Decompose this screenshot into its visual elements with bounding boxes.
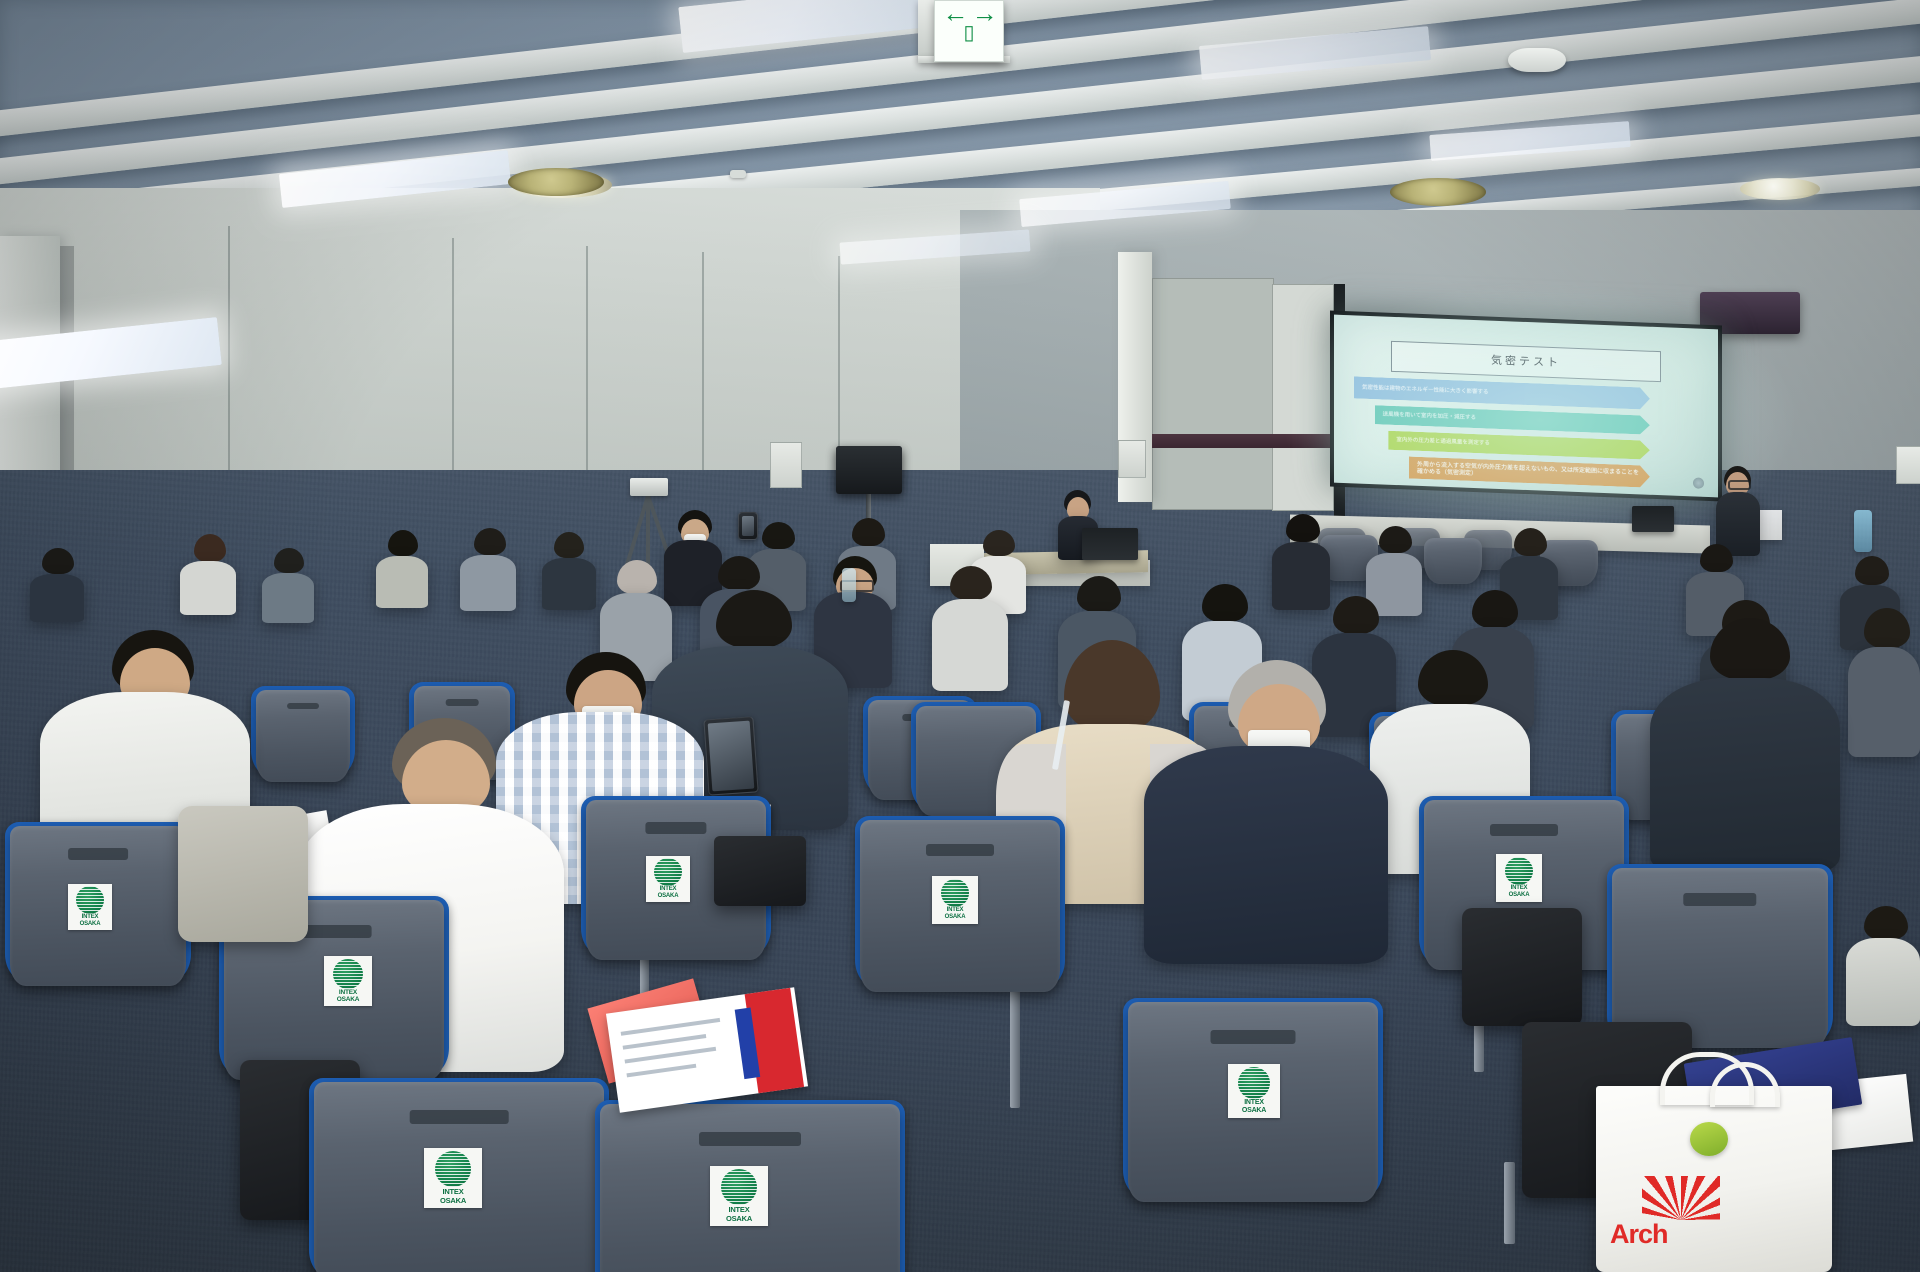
attendee-gray-hair (1144, 660, 1388, 960)
slide-bullet-4: 外周から流入する空気が内外圧力差を超えないもの、又は所定範囲に収まることを確かめ… (1409, 457, 1650, 488)
logo-line-2: OSAKA (945, 914, 966, 921)
hair (388, 530, 418, 556)
hair (852, 518, 885, 546)
logo-line-2: OSAKA (337, 996, 359, 1004)
globe-icon (654, 858, 682, 886)
chair-handle-slot (1211, 1030, 1296, 1044)
bag (714, 836, 806, 906)
logo-line-1: INTEX (339, 989, 357, 997)
hair (42, 548, 74, 574)
chair[interactable] (1612, 868, 1828, 1048)
torso (1144, 746, 1388, 964)
logo-line-1: INTEX (660, 886, 677, 893)
slide-bullet-text: 外周から流入する空気が内外圧力差を超えないもの、又は所定範囲に収まることを確かめ… (1417, 461, 1642, 484)
chair-handle-slot (1683, 893, 1756, 906)
confidence-monitor (1632, 506, 1674, 532)
sprinkler-head (730, 170, 746, 178)
torso (1846, 938, 1920, 1026)
chair[interactable]: INTEX OSAKA (10, 826, 186, 986)
projection-screen: 気密テスト 気密性能は建物のエネルギー性能に大きく影響する 送風機を用いて室内を… (1334, 315, 1718, 498)
hair (1514, 528, 1547, 556)
chair[interactable]: INTEX OSAKA (1128, 1002, 1378, 1202)
water-bottle (1854, 510, 1872, 552)
chair-handle-slot (699, 1132, 801, 1146)
brochure-text-line (626, 1064, 696, 1078)
backpack (1462, 908, 1582, 1026)
chair-handle-slot (926, 844, 994, 856)
smoke-detector (1508, 48, 1566, 72)
attendee (460, 528, 516, 608)
slide-bullet-text: 送風機を用いて室内を加圧・減圧する (1383, 411, 1476, 422)
attendee (30, 548, 84, 618)
slide-title: 気密テスト (1392, 348, 1660, 374)
wall-accent-band (1152, 434, 1332, 448)
globe-icon (1505, 857, 1533, 885)
exit-door-icon: ▯ (963, 23, 974, 43)
video-camera (630, 478, 668, 496)
globe-icon (1238, 1067, 1270, 1099)
slide-bullet-text: 気密性能は建物のエネルギー性能に大きく影響する (1362, 384, 1489, 396)
attendee (376, 530, 428, 606)
logo-line-2: OSAKA (1509, 892, 1530, 899)
hair (716, 590, 792, 648)
air-vent-diffuser (1390, 178, 1486, 206)
slide-page-marker (1693, 477, 1704, 488)
logo-line-2: OSAKA (726, 1214, 752, 1223)
chair-leg (1010, 988, 1020, 1108)
hair (762, 522, 795, 549)
logo-line-1: INTEX (82, 914, 99, 921)
logo-line-2: OSAKA (440, 1196, 466, 1205)
intex-osaka-logo: INTEX OSAKA (68, 884, 112, 930)
phone-screen (742, 516, 754, 536)
slide: 気密テスト 気密性能は建物のエネルギー性能に大きく影響する 送風機を用いて室内を… (1334, 315, 1718, 498)
emergency-exit-sign: ← → ▯ (934, 0, 1004, 62)
glasses-icon (1728, 480, 1751, 490)
attendee (1848, 608, 1920, 756)
attendee (542, 532, 596, 608)
wall-partition-panel (1152, 278, 1274, 510)
small-item (1690, 1122, 1728, 1156)
air-vent-diffuser (508, 168, 604, 196)
torso (542, 558, 596, 610)
intex-osaka-logo: INTEX OSAKA (1496, 854, 1542, 902)
hair (1418, 650, 1488, 706)
hair (1710, 618, 1790, 680)
intex-osaka-logo: INTEX OSAKA (646, 856, 690, 902)
chair[interactable]: INTEX OSAKA (860, 820, 1060, 992)
chair-leg (1504, 1162, 1515, 1244)
torso (30, 574, 84, 622)
intex-osaka-logo: INTEX OSAKA (424, 1148, 482, 1208)
jacket-on-chair (178, 806, 308, 942)
presenter-notes (1758, 510, 1782, 540)
hair (1864, 906, 1908, 940)
chair-handle-slot (287, 703, 319, 709)
hair (194, 534, 226, 562)
torso (180, 561, 236, 615)
hair (1700, 544, 1733, 572)
hair (983, 530, 1015, 556)
hair (1286, 514, 1320, 542)
slide-title-box: 気密テスト (1391, 341, 1661, 382)
chair-handle-slot (446, 699, 479, 706)
slide-bullet-1: 気密性能は建物のエネルギー性能に大きく影響する (1354, 376, 1650, 409)
torso (376, 556, 428, 608)
chair-handle-slot (645, 822, 706, 833)
chair[interactable]: INTEX OSAKA (600, 1104, 900, 1272)
logo-line-1: INTEX (442, 1187, 463, 1196)
brochure-text-line (625, 1047, 717, 1064)
logo-line-2: OSAKA (658, 893, 679, 900)
logo-line-1: INTEX (728, 1205, 749, 1214)
hair (554, 532, 584, 558)
phone-screen (708, 721, 755, 792)
globe-icon (721, 1169, 757, 1205)
seminar-room-photo: ← → ▯ 気密テスト 気密性能は建物のエネルギー性能に大きく影響する (0, 0, 1920, 1272)
intex-osaka-logo: INTEX OSAKA (710, 1166, 768, 1226)
intex-osaka-logo: INTEX OSAKA (932, 876, 978, 924)
logo-line-1: INTEX (1244, 1099, 1264, 1107)
slide-bullet-2: 送風機を用いて室内を加圧・減圧する (1375, 405, 1650, 435)
wall-control-panel (770, 442, 802, 488)
hair (1864, 608, 1910, 648)
hair (1077, 576, 1121, 612)
hair (474, 528, 506, 555)
hair (1333, 596, 1379, 634)
hair (718, 556, 760, 590)
hair (950, 566, 992, 600)
attendee (1650, 618, 1840, 868)
globe-icon (333, 959, 363, 989)
attendee (932, 566, 1008, 690)
hair (274, 548, 304, 573)
pa-speaker (836, 446, 902, 494)
attendee-smartphone[interactable] (738, 512, 758, 540)
hair (1379, 526, 1412, 553)
chair[interactable] (1424, 538, 1482, 584)
torso (932, 599, 1008, 691)
chair-handle-slot (410, 1110, 509, 1124)
operator-laptop (1082, 528, 1138, 560)
intex-osaka-logo: INTEX OSAKA (1228, 1064, 1280, 1118)
globe-icon (76, 886, 104, 914)
slide-bullet-3: 室内外の圧力差と通過風量を測定する (1388, 431, 1649, 460)
tote-brand-text: Arch (1610, 1219, 1668, 1250)
logo-line-2: OSAKA (1242, 1107, 1266, 1115)
torso (262, 573, 314, 623)
wall-plate (1896, 446, 1920, 484)
logo-line-1: INTEX (947, 907, 964, 914)
presenter (1716, 466, 1760, 556)
tote-bag: Arch (1596, 1086, 1832, 1272)
wall-partition-panel (1272, 284, 1334, 511)
chair-handle-slot (1490, 824, 1558, 836)
sunburst-logo-icon (1642, 1176, 1720, 1220)
globe-icon (941, 879, 969, 907)
chair-back (1424, 538, 1482, 584)
hair (1472, 590, 1518, 628)
globe-icon (435, 1151, 471, 1187)
attendee (180, 534, 236, 612)
logo-line-2: OSAKA (80, 921, 101, 928)
intex-osaka-logo: INTEX OSAKA (324, 956, 372, 1006)
exit-arrows-icon: ← → (942, 3, 995, 23)
torso (460, 555, 516, 611)
hair (1202, 584, 1248, 622)
hair (1855, 556, 1889, 585)
torso (1650, 678, 1840, 872)
smartphone[interactable] (703, 716, 758, 795)
chair-handle-slot (68, 848, 128, 859)
hair (617, 560, 657, 594)
attendee (262, 548, 314, 620)
torso (1848, 647, 1920, 757)
round-downlight (1740, 178, 1820, 200)
logo-line-1: INTEX (1511, 885, 1528, 892)
attendee-kneeling (1846, 906, 1920, 1026)
brochure-text-line (623, 1034, 707, 1050)
wall-plate (1118, 440, 1146, 478)
slide-bullet-text: 室内外の圧力差と通過風量を測定する (1396, 437, 1490, 448)
chair[interactable]: INTEX OSAKA (314, 1082, 604, 1272)
